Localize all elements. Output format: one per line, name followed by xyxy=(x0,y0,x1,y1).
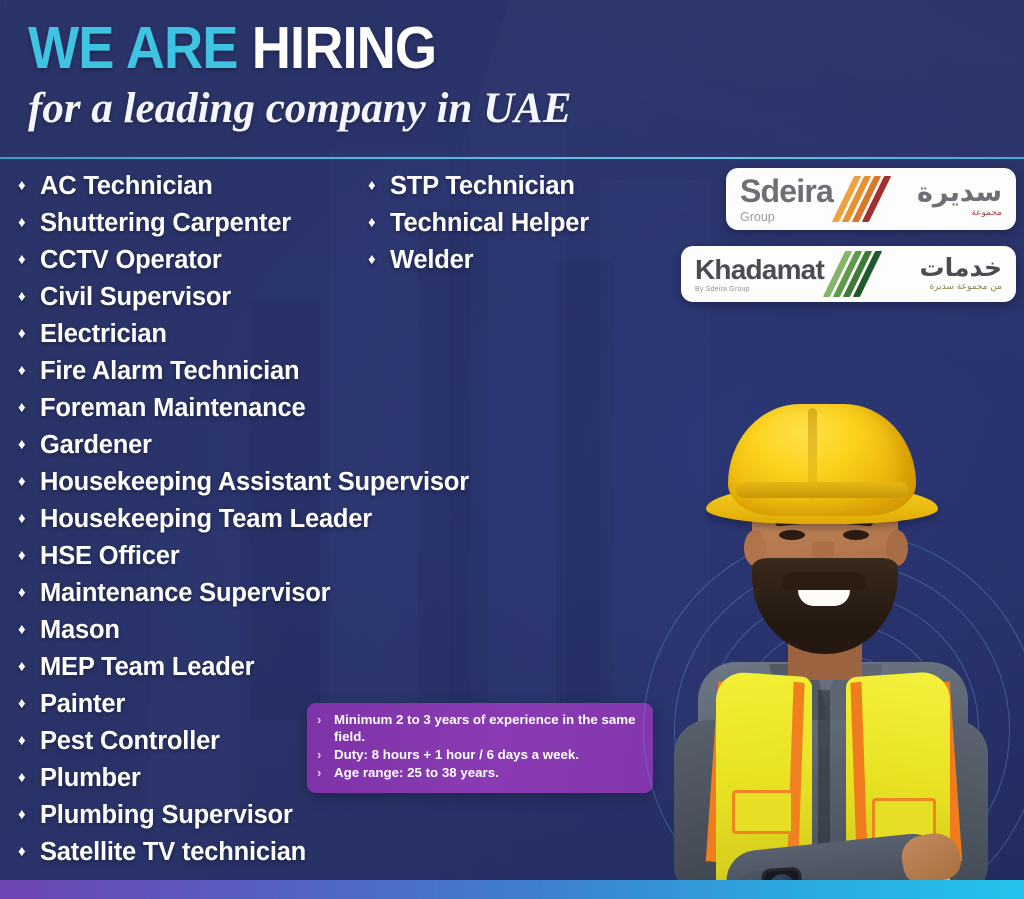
diamond-bullet-icon: ♦ xyxy=(18,585,40,600)
sdeira-latin-text: Sdeira Group xyxy=(740,175,833,224)
job-list-item: ♦MEP Team Leader xyxy=(18,649,469,686)
job-title-label: Mason xyxy=(40,616,120,645)
job-title-label: Electrician xyxy=(40,320,167,349)
diamond-bullet-icon: ♦ xyxy=(368,178,390,193)
khadamat-arabic-subtitle: من مجموعة سديرة xyxy=(892,283,1002,293)
job-title-label: MEP Team Leader xyxy=(40,653,254,682)
logo-khadamat[interactable]: Khadamat By Sdeira Group خدمات من مجموعة… xyxy=(681,246,1016,302)
job-list-item: ♦Welder xyxy=(368,242,589,279)
khadamat-name: Khadamat xyxy=(695,256,824,284)
job-title-label: Plumber xyxy=(40,764,141,793)
chevron-right-icon: › xyxy=(317,747,334,764)
diamond-bullet-icon: ♦ xyxy=(18,326,40,341)
job-title-label: Civil Supervisor xyxy=(40,283,231,312)
page-subtitle: for a leading company in UAE xyxy=(28,84,748,133)
job-list-item: ♦Electrician xyxy=(18,316,469,353)
job-title-label: HSE Officer xyxy=(40,542,180,571)
job-title-label: Housekeeping Assistant Supervisor xyxy=(40,468,469,497)
diamond-bullet-icon: ♦ xyxy=(18,511,40,526)
diamond-bullet-icon: ♦ xyxy=(18,252,40,267)
job-list-item: ♦HSE Officer xyxy=(18,538,469,575)
job-list-item: ♦Plumbing Supervisor xyxy=(18,797,469,834)
job-list-item: ♦STP Technician xyxy=(368,168,589,205)
bottom-gradient-bar xyxy=(0,880,1024,899)
diamond-bullet-icon: ♦ xyxy=(18,178,40,193)
job-title-label: Satellite TV technician xyxy=(40,838,306,867)
job-title-label: Housekeeping Team Leader xyxy=(40,505,372,534)
requirement-text: Duty: 8 hours + 1 hour / 6 days a week. xyxy=(334,747,579,764)
diamond-bullet-icon: ♦ xyxy=(18,548,40,563)
headline-highlight: WE ARE xyxy=(28,15,238,81)
khadamat-stripes-icon xyxy=(832,254,884,294)
diamond-bullet-icon: ♦ xyxy=(18,289,40,304)
requirement-text: Minimum 2 to 3 years of experience in th… xyxy=(334,712,641,746)
requirement-item: ›Duty: 8 hours + 1 hour / 6 days a week. xyxy=(317,747,641,764)
requirements-box: ›Minimum 2 to 3 years of experience in t… xyxy=(307,703,653,793)
sdeira-arabic-name: سديرة xyxy=(901,179,1002,207)
job-title-label: Pest Controller xyxy=(40,727,220,756)
job-title-label: Gardener xyxy=(40,431,152,460)
job-list-item: ♦Civil Supervisor xyxy=(18,279,469,316)
sdeira-subtitle: Group xyxy=(740,210,833,224)
sdeira-name: Sdeira xyxy=(740,175,833,207)
diamond-bullet-icon: ♦ xyxy=(18,363,40,378)
job-title-label: Fire Alarm Technician xyxy=(40,357,299,386)
sdeira-arabic-subtitle: مجموعة xyxy=(901,209,1002,219)
hiring-poster: WE ARE HIRING for a leading company in U… xyxy=(0,0,1024,899)
diamond-bullet-icon: ♦ xyxy=(18,215,40,230)
job-list-item: ♦Technical Helper xyxy=(368,205,589,242)
page-title: WE ARE HIRING xyxy=(28,18,690,78)
khadamat-subtitle: By Sdeira Group xyxy=(695,286,824,293)
diamond-bullet-icon: ♦ xyxy=(18,622,40,637)
diamond-bullet-icon: ♦ xyxy=(18,844,40,859)
diamond-bullet-icon: ♦ xyxy=(18,807,40,822)
chevron-right-icon: › xyxy=(317,712,334,729)
diamond-bullet-icon: ♦ xyxy=(368,252,390,267)
headline-rest: HIRING xyxy=(252,15,436,81)
job-list-item: ♦Foreman Maintenance xyxy=(18,390,469,427)
job-title-label: Welder xyxy=(390,246,473,275)
diamond-bullet-icon: ♦ xyxy=(18,659,40,674)
diamond-bullet-icon: ♦ xyxy=(368,215,390,230)
poster-header: WE ARE HIRING for a leading company in U… xyxy=(28,18,748,133)
diamond-bullet-icon: ♦ xyxy=(18,733,40,748)
khadamat-arabic-name: خدمات xyxy=(892,255,1002,281)
job-list-item: ♦Mason xyxy=(18,612,469,649)
job-title-label: STP Technician xyxy=(390,172,575,201)
diamond-bullet-icon: ♦ xyxy=(18,770,40,785)
job-title-label: Plumbing Supervisor xyxy=(40,801,293,830)
chevron-right-icon: › xyxy=(317,765,334,782)
job-list-item: ♦Fire Alarm Technician xyxy=(18,353,469,390)
job-column-two: ♦STP Technician♦Technical Helper♦Welder xyxy=(368,168,589,279)
job-title-label: Foreman Maintenance xyxy=(40,394,305,423)
requirement-item: ›Age range: 25 to 38 years. xyxy=(317,765,641,782)
job-title-label: Technical Helper xyxy=(390,209,589,238)
diamond-bullet-icon: ♦ xyxy=(18,474,40,489)
requirement-text: Age range: 25 to 38 years. xyxy=(334,765,499,782)
job-list-item: ♦Gardener xyxy=(18,427,469,464)
diamond-bullet-icon: ♦ xyxy=(18,400,40,415)
diamond-bullet-icon: ♦ xyxy=(18,696,40,711)
header-divider xyxy=(0,157,1024,159)
requirement-item: ›Minimum 2 to 3 years of experience in t… xyxy=(317,712,641,746)
job-list-item: ♦Housekeeping Team Leader xyxy=(18,501,469,538)
logo-sdeira-group[interactable]: Sdeira Group سديرة مجموعة xyxy=(726,168,1016,230)
job-list-item: ♦Housekeeping Assistant Supervisor xyxy=(18,464,469,501)
job-list-item: ♦Maintenance Supervisor xyxy=(18,575,469,612)
diamond-bullet-icon: ♦ xyxy=(18,437,40,452)
job-title-label: AC Technician xyxy=(40,172,213,201)
khadamat-latin-text: Khadamat By Sdeira Group xyxy=(695,256,824,293)
construction-worker-photo xyxy=(640,390,1024,885)
sdeira-arabic-text: سديرة مجموعة xyxy=(901,179,1002,218)
job-list-item: ♦Satellite TV technician xyxy=(18,834,469,871)
job-title-label: Shuttering Carpenter xyxy=(40,209,291,238)
sdeira-stripes-icon xyxy=(841,179,893,219)
job-title-label: Maintenance Supervisor xyxy=(40,579,330,608)
job-title-label: Painter xyxy=(40,690,125,719)
khadamat-arabic-text: خدمات من مجموعة سديرة xyxy=(892,255,1002,292)
job-title-label: CCTV Operator xyxy=(40,246,222,275)
